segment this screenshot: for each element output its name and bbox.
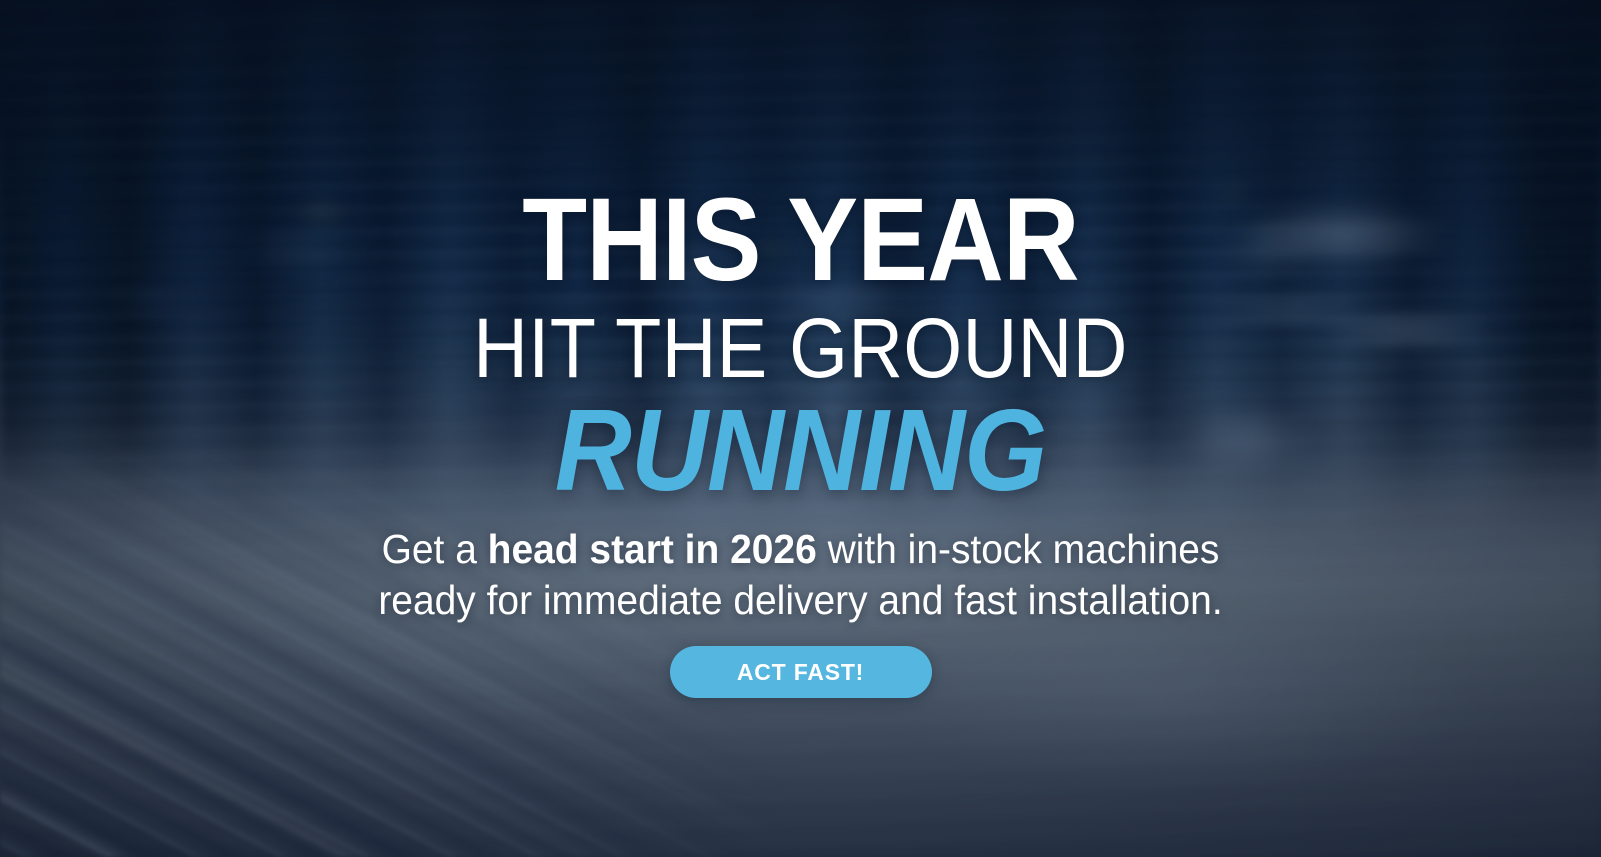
headline-line-1: THIS YEAR	[80, 186, 1521, 296]
cta-container: ACT FAST!	[0, 646, 1601, 698]
subheadline-suffix: with in-stock machines	[817, 526, 1220, 572]
subheadline: Get a head start in 2026 with in-stock m…	[40, 524, 1561, 626]
headline-line-3-accent: RUNNING	[64, 392, 1537, 508]
subheadline-emphasis: head start in 2026	[488, 526, 817, 572]
promo-banner: THIS YEAR HIT THE GROUND RUNNING Get a h…	[0, 0, 1601, 857]
subheadline-prefix: Get a	[382, 526, 488, 572]
headline-block: THIS YEAR HIT THE GROUND RUNNING	[0, 186, 1601, 508]
subheadline-line-2: ready for immediate delivery and fast in…	[40, 575, 1561, 626]
banner-content: THIS YEAR HIT THE GROUND RUNNING Get a h…	[0, 0, 1601, 857]
act-fast-button[interactable]: ACT FAST!	[670, 646, 932, 698]
subheadline-line-1: Get a head start in 2026 with in-stock m…	[40, 524, 1561, 575]
headline-line-2: HIT THE GROUND	[80, 306, 1521, 390]
